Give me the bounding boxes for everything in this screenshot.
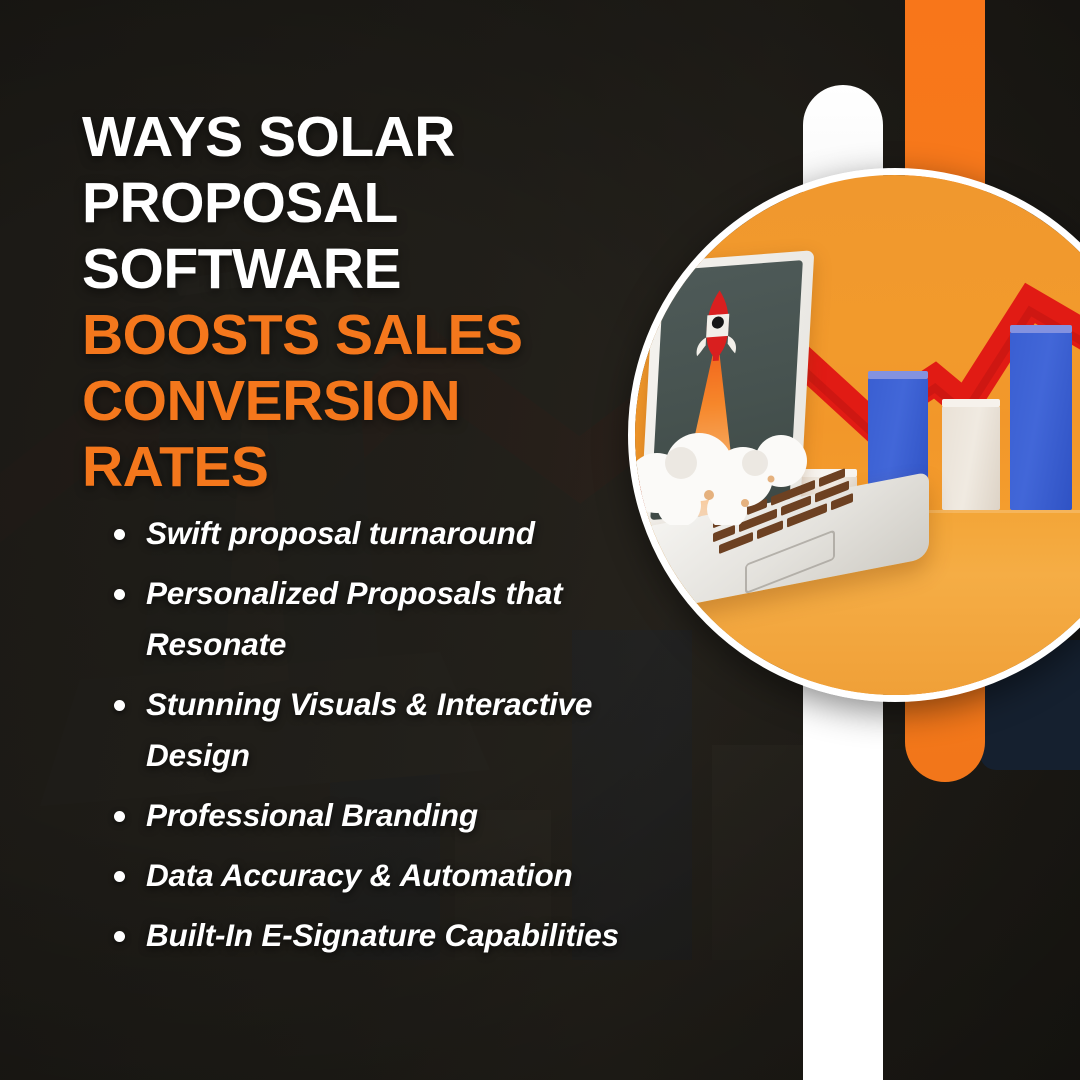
headline-line-3: SOFTWARE [82,236,702,302]
list-item: Swift proposal turnaround [100,508,700,559]
list-item: Personalized Proposals that Resonate [100,568,700,670]
headline-line-4: BOOSTS SALES [82,302,702,368]
page-title: WAYS SOLAR PROPOSAL SOFTWARE BOOSTS SALE… [82,104,702,500]
headline-line-2: PROPOSAL [82,170,702,236]
headline-line-6: RATES [82,434,702,500]
headline-block: WAYS SOLAR PROPOSAL SOFTWARE BOOSTS SALE… [82,104,702,500]
feature-list: Swift proposal turnaround Personalized P… [100,508,700,970]
poster-canvas: WAYS SOLAR PROPOSAL SOFTWARE BOOSTS SALE… [0,0,1080,1080]
list-item: Data Accuracy & Automation [100,850,700,901]
list-item: Professional Branding [100,790,700,841]
list-item: Stunning Visuals & Interactive Design [100,679,700,781]
headline-line-5: CONVERSION [82,368,702,434]
chart-bar-4 [1010,332,1072,510]
feature-list-items: Swift proposal turnaround Personalized P… [100,508,700,961]
headline-line-1: WAYS SOLAR [82,104,702,170]
list-item: Built-In E-Signature Capabilities [100,910,700,961]
chart-bar-3 [942,406,1000,510]
